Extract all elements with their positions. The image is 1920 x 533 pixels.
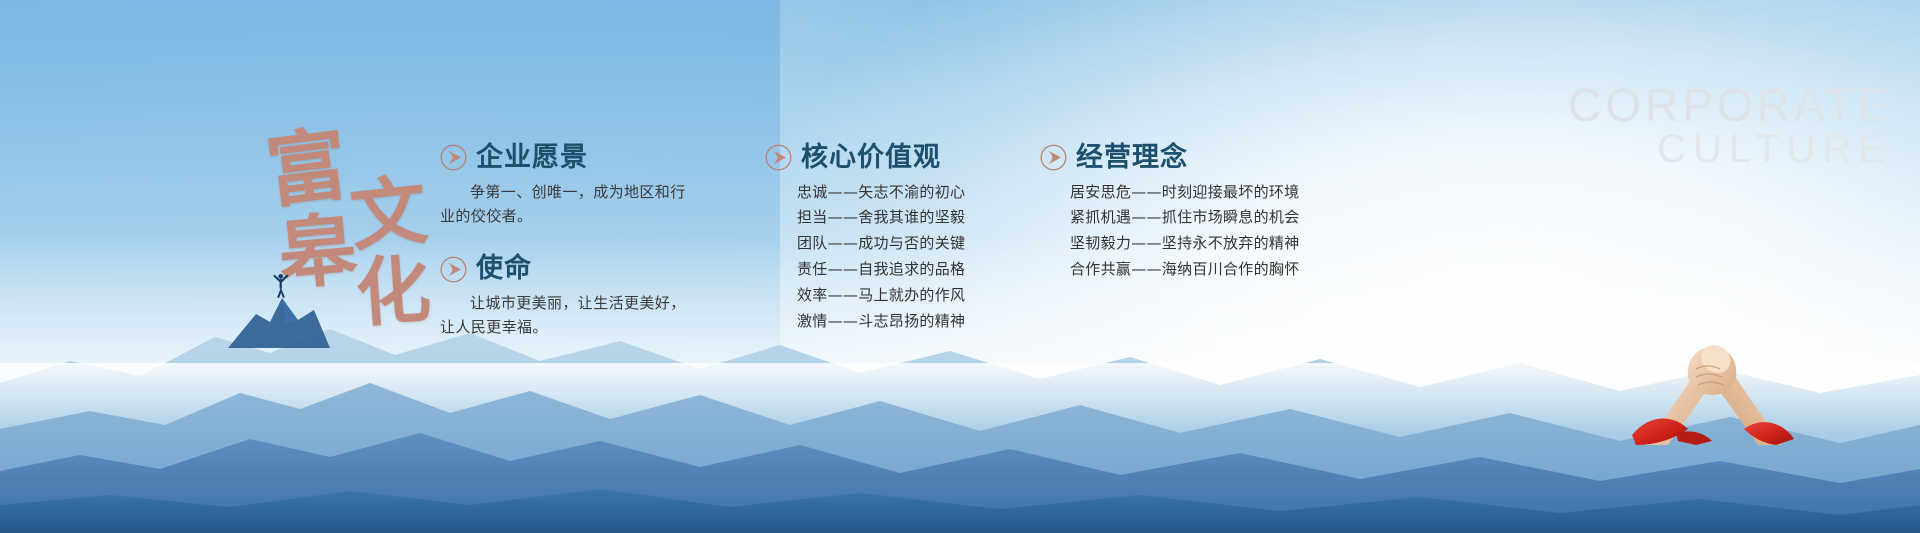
list-item: 坚韧毅力——坚持永不放弃的精神 [1070, 231, 1340, 257]
column-business-philosophy: 经营理念 居安思危——时刻迎接最坏的环境 紧抓机遇——抓住市场瞬息的机会 坚韧毅… [1040, 143, 1340, 283]
section-mission-header: 使命 [440, 254, 730, 284]
section-vision: 企业愿景 争第一、创唯一，成为地区和行业的佼佼者。 [440, 143, 730, 228]
section-vision-title: 企业愿景 [476, 143, 588, 173]
circle-arrow-icon [440, 256, 467, 283]
section-mission-title: 使命 [476, 254, 532, 284]
list-item: 忠诚——矢志不渝的初心 [797, 180, 1045, 206]
section-business-philosophy-header: 经营理念 [1040, 143, 1340, 173]
section-core-values-title: 核心价值观 [801, 143, 941, 173]
list-item: 合作共赢——海纳百川合作的胸怀 [1070, 257, 1340, 283]
circle-arrow-icon [440, 144, 467, 171]
corporate-culture-banner: CORPORATE CULTURE [0, 0, 1920, 533]
list-item: 激情——斗志昂扬的精神 [797, 309, 1045, 335]
section-vision-paragraph: 争第一、创唯一，成为地区和行业的佼佼者。 [440, 180, 690, 229]
section-mission: 使命 让城市更美丽，让生活更美好，让人民更幸福。 [440, 254, 730, 339]
business-philosophy-list: 居安思危——时刻迎接最坏的环境 紧抓机遇——抓住市场瞬息的机会 坚韧毅力——坚持… [1040, 180, 1340, 283]
content-columns: 企业愿景 争第一、创唯一，成为地区和行业的佼佼者。 使命 让城市更美丽，让生活更… [0, 0, 1920, 533]
section-mission-paragraph: 让城市更美丽，让生活更美好，让人民更幸福。 [440, 291, 690, 340]
list-item: 责任——自我追求的品格 [797, 257, 1045, 283]
list-item: 团队——成功与否的关键 [797, 231, 1045, 257]
circle-arrow-icon [1040, 144, 1067, 171]
section-vision-header: 企业愿景 [440, 143, 730, 173]
circle-arrow-icon [765, 144, 792, 171]
list-item: 居安思危——时刻迎接最坏的环境 [1070, 180, 1340, 206]
list-item: 担当——舍我其谁的坚毅 [797, 205, 1045, 231]
section-business-philosophy-title: 经营理念 [1076, 143, 1188, 173]
list-item: 紧抓机遇——抓住市场瞬息的机会 [1070, 205, 1340, 231]
section-core-values-header: 核心价值观 [765, 143, 1045, 173]
core-values-list: 忠诚——矢志不渝的初心 担当——舍我其谁的坚毅 团队——成功与否的关键 责任——… [765, 180, 1045, 335]
column-vision-mission: 企业愿景 争第一、创唯一，成为地区和行业的佼佼者。 使命 让城市更美丽，让生活更… [440, 143, 730, 344]
column-core-values: 核心价值观 忠诚——矢志不渝的初心 担当——舍我其谁的坚毅 团队——成功与否的关… [765, 143, 1045, 334]
list-item: 效率——马上就办的作风 [797, 283, 1045, 309]
